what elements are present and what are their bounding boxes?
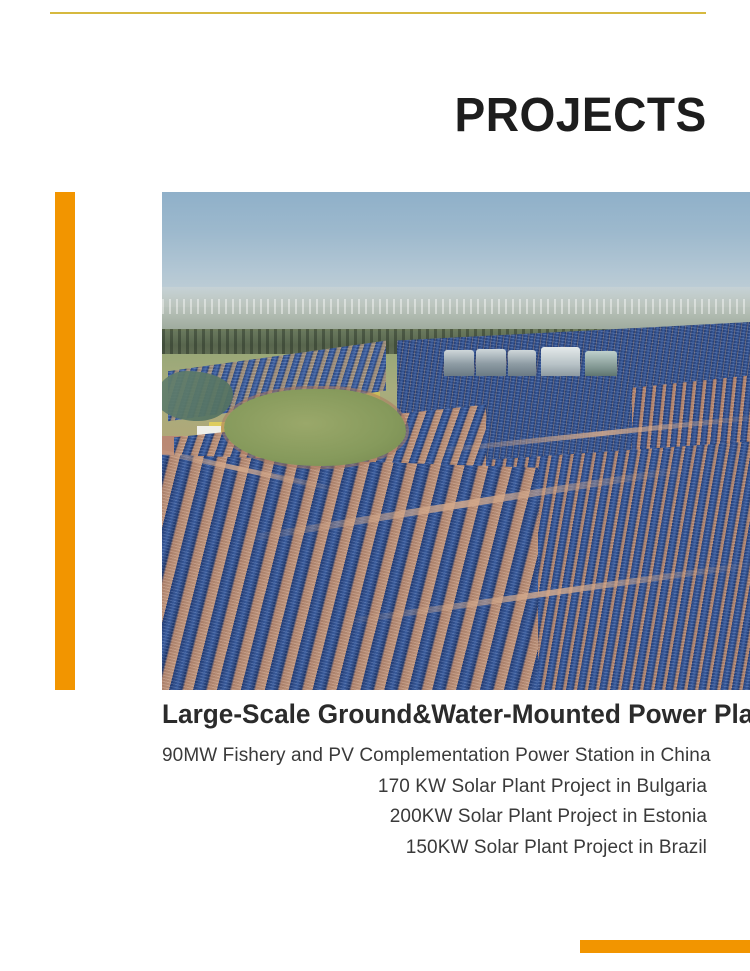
central-pond [224, 389, 406, 466]
list-item: 90MW Fishery and PV Complementation Powe… [162, 741, 707, 772]
project-list: 90MW Fishery and PV Complementation Powe… [162, 741, 707, 864]
industrial-sheds [444, 344, 620, 376]
solar-array-lower-left [162, 454, 538, 690]
side-water-pool [162, 371, 233, 421]
page-title: PROJECTS [455, 92, 707, 140]
list-item: 170 KW Solar Plant Project in Bulgaria [162, 772, 707, 803]
caption-heading: Large-Scale Ground&Water-Mounted Power P… [162, 698, 691, 732]
left-accent-bar [55, 192, 75, 690]
distant-town [162, 299, 750, 314]
aerial-solar-plant-illustration [162, 192, 750, 690]
list-item: 200KW Solar Plant Project in Estonia [162, 802, 707, 833]
bottom-accent-bar [580, 940, 750, 953]
list-item: 150KW Solar Plant Project in Brazil [162, 833, 707, 864]
project-photo [162, 192, 750, 690]
caption-block: Large-Scale Ground&Water-Mounted Power P… [162, 698, 707, 864]
top-divider-rule [50, 12, 706, 14]
